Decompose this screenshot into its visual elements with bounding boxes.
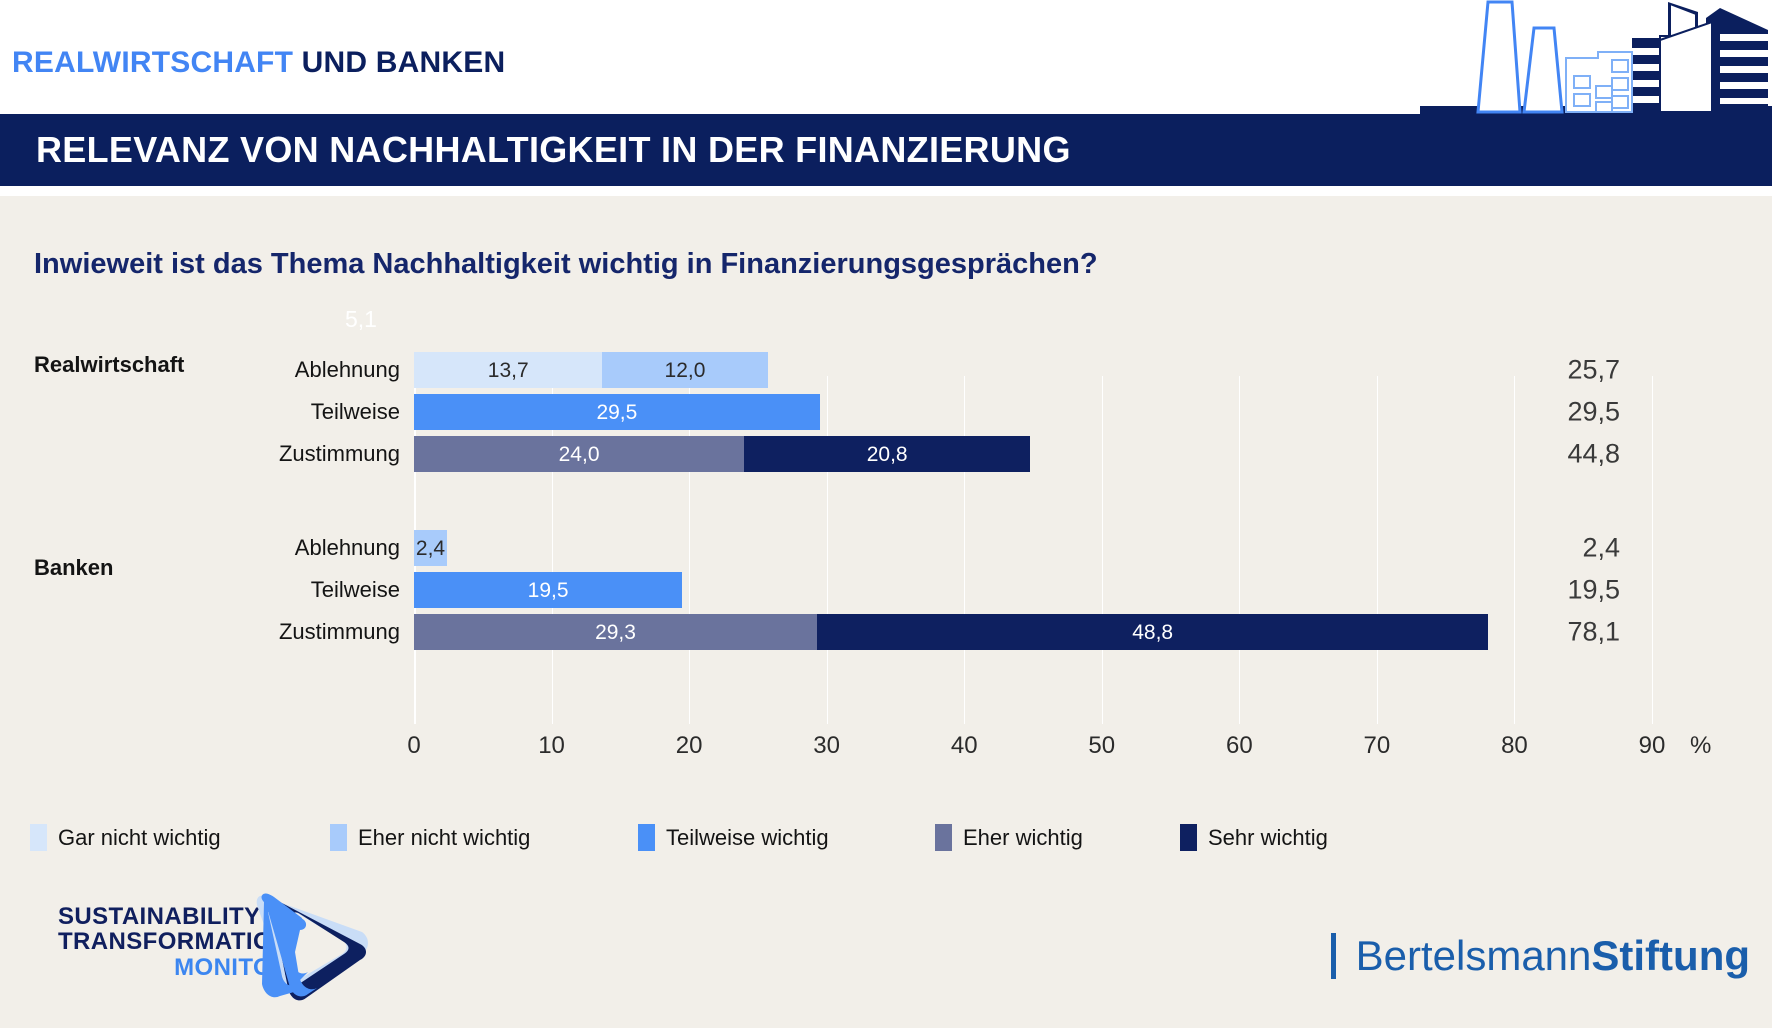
row-bar-group: 2,4: [414, 530, 447, 566]
row-bar-group: 13,712,0: [414, 352, 768, 388]
bar-segment: 19,5: [414, 572, 682, 608]
bar-segment: 12,0: [602, 352, 767, 388]
legend-item[interactable]: Gar nicht wichtig: [30, 824, 221, 851]
row-total-label: 29,5: [1540, 397, 1620, 428]
x-axis-tick-label: 0: [407, 732, 420, 760]
bar-segment: 48,8: [817, 614, 1488, 650]
chart-legend: Gar nicht wichtigEher nicht wichtigTeilw…: [30, 824, 1430, 864]
legend-item[interactable]: Teilweise wichtig: [638, 824, 829, 851]
chart-row: Zustimmung24,020,844,8: [0, 436, 1772, 472]
chart-row: Teilweise29,529,5: [0, 394, 1772, 430]
x-axis-ticks: % 0102030405060708090: [0, 732, 1772, 766]
x-axis-tick-label: 30: [813, 732, 840, 760]
row-label: Zustimmung: [279, 619, 400, 645]
row-label: Zustimmung: [279, 441, 400, 467]
row-total-label: 78,1: [1540, 617, 1620, 648]
legend-swatch-icon: [935, 824, 952, 851]
row-bar-group: 24,020,8: [414, 436, 1030, 472]
legend-label: Eher wichtig: [963, 825, 1083, 851]
x-axis-tick-label: 10: [538, 732, 565, 760]
legend-item[interactable]: Eher wichtig: [935, 824, 1083, 851]
row-total-label: 25,7: [1540, 355, 1620, 386]
legend-swatch-icon: [30, 824, 47, 851]
sustainability-transformation-monitor-logo: SUSTAINABILITY TRANSFORMATION MONITOR: [34, 892, 374, 1002]
x-axis-tick-label: 70: [1364, 732, 1391, 760]
bar-segment: 2,4: [414, 530, 447, 566]
row-total-label: 19,5: [1540, 575, 1620, 606]
legend-item[interactable]: Eher nicht wichtig: [330, 824, 530, 851]
bar-segment: 24,0: [414, 436, 744, 472]
x-axis-tick-label: 90: [1639, 732, 1666, 760]
chart-row: Zustimmung29,348,878,1: [0, 614, 1772, 650]
bertelsmann-word: Bertelsmann: [1356, 932, 1592, 979]
stiftung-word: Stiftung: [1591, 932, 1750, 979]
legend-swatch-icon: [330, 824, 347, 851]
x-axis-tick-label: 20: [676, 732, 703, 760]
row-label: Teilweise: [311, 399, 400, 425]
bertelsmann-logo-text: BertelsmannStiftung: [1356, 932, 1750, 980]
chart-row: Ablehnung13,712,025,7: [0, 352, 1772, 388]
legend-label: Teilweise wichtig: [666, 825, 829, 851]
x-axis-tick-label: 80: [1501, 732, 1528, 760]
question-heading: Inwieweit ist das Thema Nachhaltigkeit w…: [34, 248, 1098, 281]
chart-row: Teilweise19,519,5: [0, 572, 1772, 608]
row-bar-group: 19,5: [414, 572, 682, 608]
eyebrow-highlight-text: REALWIRTSCHAFT: [12, 46, 293, 79]
chart-row: Ablehnung2,42,4: [0, 530, 1772, 566]
page-title-bar: RELEVANZ VON NACHHALTIGKEIT IN DER FINAN…: [0, 114, 1772, 186]
bar-segment: 13,7: [414, 352, 602, 388]
legend-swatch-icon: [1180, 824, 1197, 851]
eyebrow-heading: REALWIRTSCHAFT UND BANKEN: [12, 46, 505, 80]
x-axis-unit-label: %: [1690, 732, 1711, 760]
x-axis-tick-label: 50: [1088, 732, 1115, 760]
bar-segment: 29,3: [414, 614, 817, 650]
legend-item[interactable]: Sehr wichtig: [1180, 824, 1328, 851]
eyebrow-rest-text: UND BANKEN: [293, 46, 505, 79]
legend-label: Gar nicht wichtig: [58, 825, 221, 851]
row-label: Ablehnung: [295, 357, 400, 383]
legend-label: Sehr wichtig: [1208, 825, 1328, 851]
bar-segment: 20,8: [744, 436, 1030, 472]
x-axis-tick-label: 40: [951, 732, 978, 760]
row-label: Ablehnung: [295, 535, 400, 561]
legend-label: Eher nicht wichtig: [358, 825, 530, 851]
factory-skyline-icon: [1420, 0, 1772, 118]
stm-triangle-swoosh-icon: [250, 888, 372, 1006]
bertelsmann-bar-icon: [1331, 933, 1336, 979]
bar-segment: 29,5: [414, 394, 820, 430]
legend-swatch-icon: [638, 824, 655, 851]
row-bar-group: 29,348,8: [414, 614, 1488, 650]
x-axis-tick-label: 60: [1226, 732, 1253, 760]
row-bar-group: 29,5: [414, 394, 820, 430]
page-title: RELEVANZ VON NACHHALTIGKEIT IN DER FINAN…: [36, 129, 1071, 171]
row-total-label: 2,4: [1540, 533, 1620, 564]
bertelsmann-stiftung-logo: BertelsmannStiftung: [1331, 928, 1750, 984]
header-bar: REALWIRTSCHAFT UND BANKEN: [0, 0, 1772, 114]
row-total-label: 44,8: [1540, 439, 1620, 470]
row-label: Teilweise: [311, 577, 400, 603]
